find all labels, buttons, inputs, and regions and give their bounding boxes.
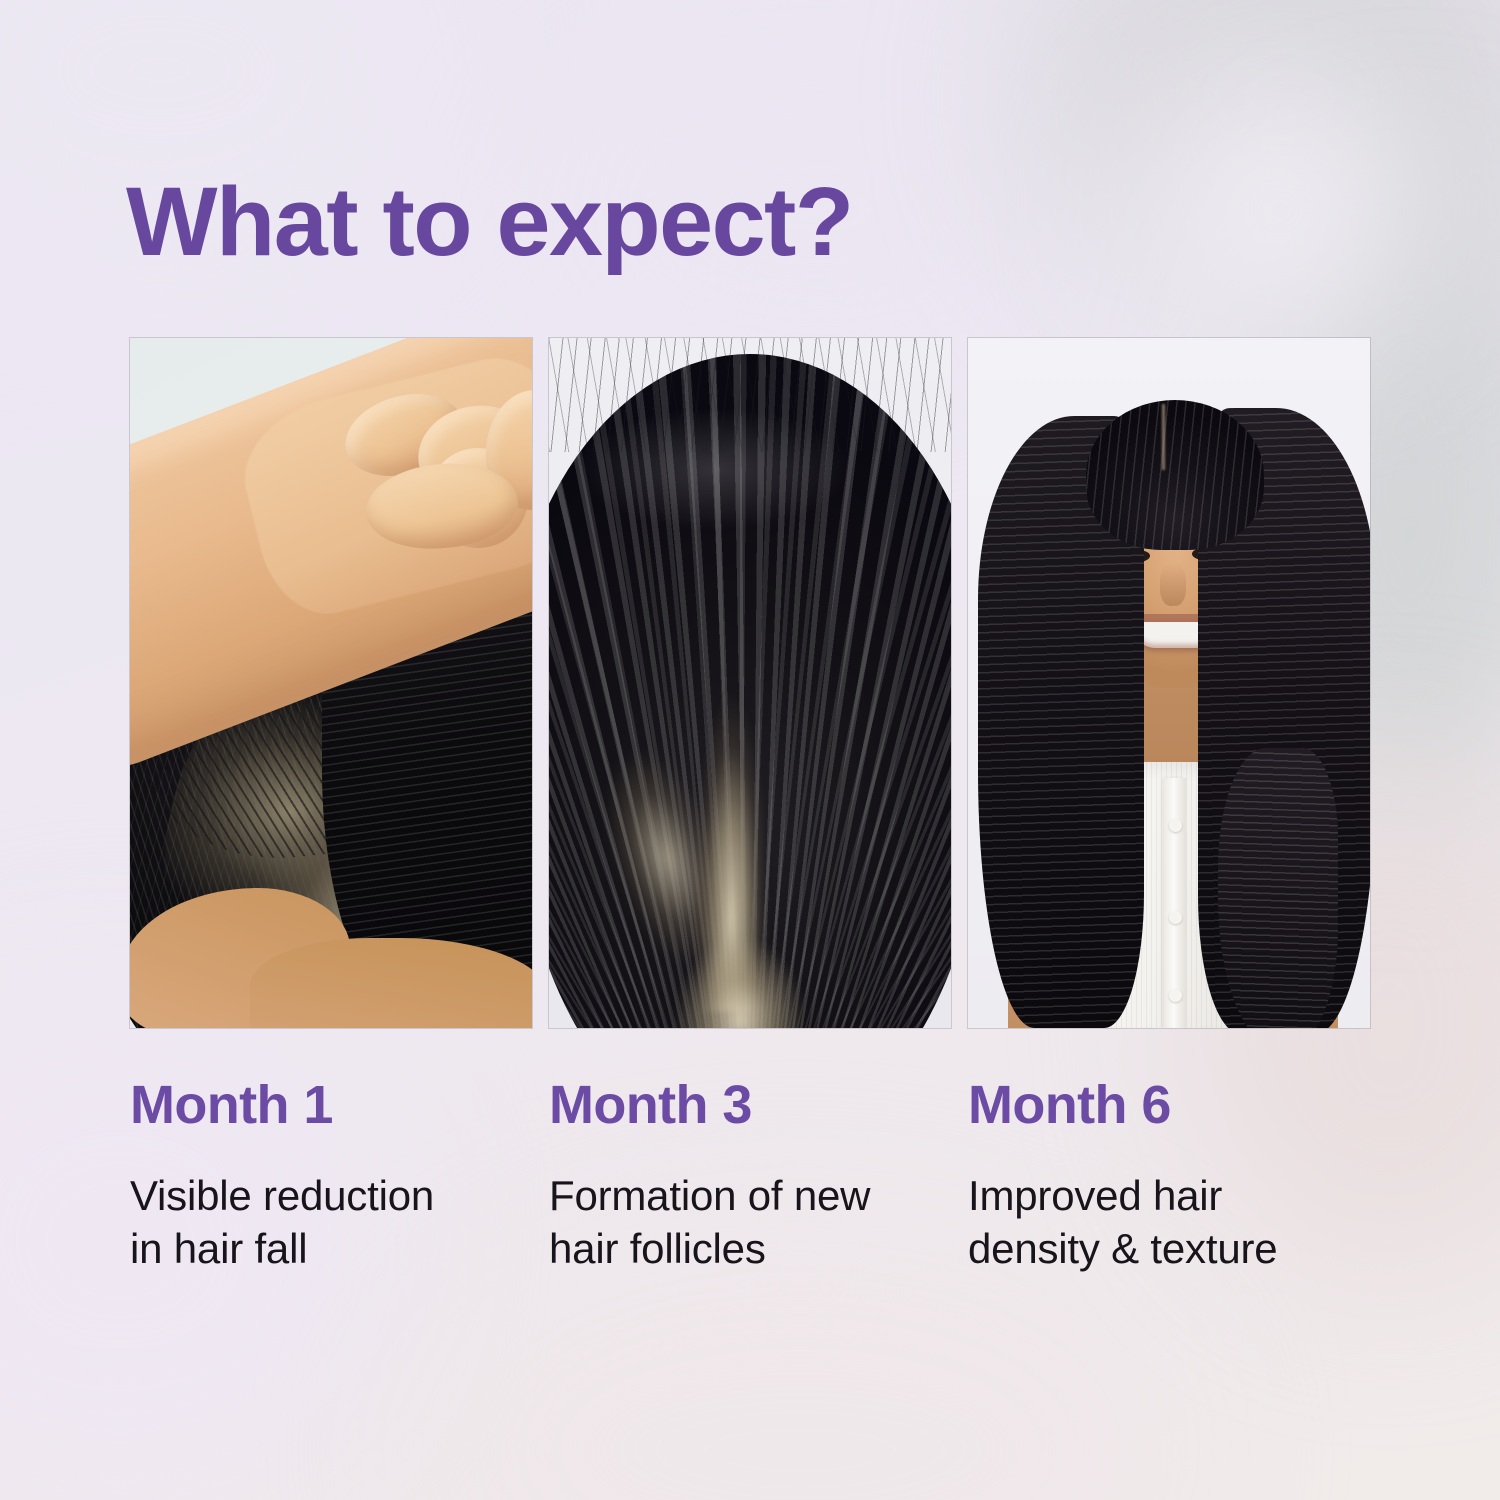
timeline-card-month-1: Month 1 Visible reduction in hair fall [130, 338, 532, 1276]
month-description: Visible reduction in hair fall [130, 1170, 532, 1276]
what-to-expect-panel: What to expect? Month 1 Visibl [0, 0, 1500, 1500]
bokeh-blob [420, 1240, 1180, 1500]
timeline-gallery: Month 1 Visible reduction in hair fall M… [130, 338, 1369, 1276]
month-description: Improved hair density & texture [968, 1170, 1370, 1276]
photo-month-3 [549, 338, 951, 1028]
month-label: Month 3 [549, 1078, 951, 1132]
bokeh-blob [1130, 60, 1430, 360]
month-label: Month 1 [130, 1078, 532, 1132]
photo-month-1 [130, 338, 532, 1028]
bokeh-blob [1030, 0, 1500, 310]
month-label: Month 6 [968, 1078, 1370, 1132]
timeline-card-month-6: Month 6 Improved hair density & texture [968, 338, 1370, 1276]
month-description: Formation of new hair follicles [549, 1170, 951, 1276]
photo-month-6 [968, 338, 1370, 1028]
timeline-card-month-3: Month 3 Formation of new hair follicles [549, 338, 951, 1276]
page-title: What to expect? [126, 173, 853, 270]
